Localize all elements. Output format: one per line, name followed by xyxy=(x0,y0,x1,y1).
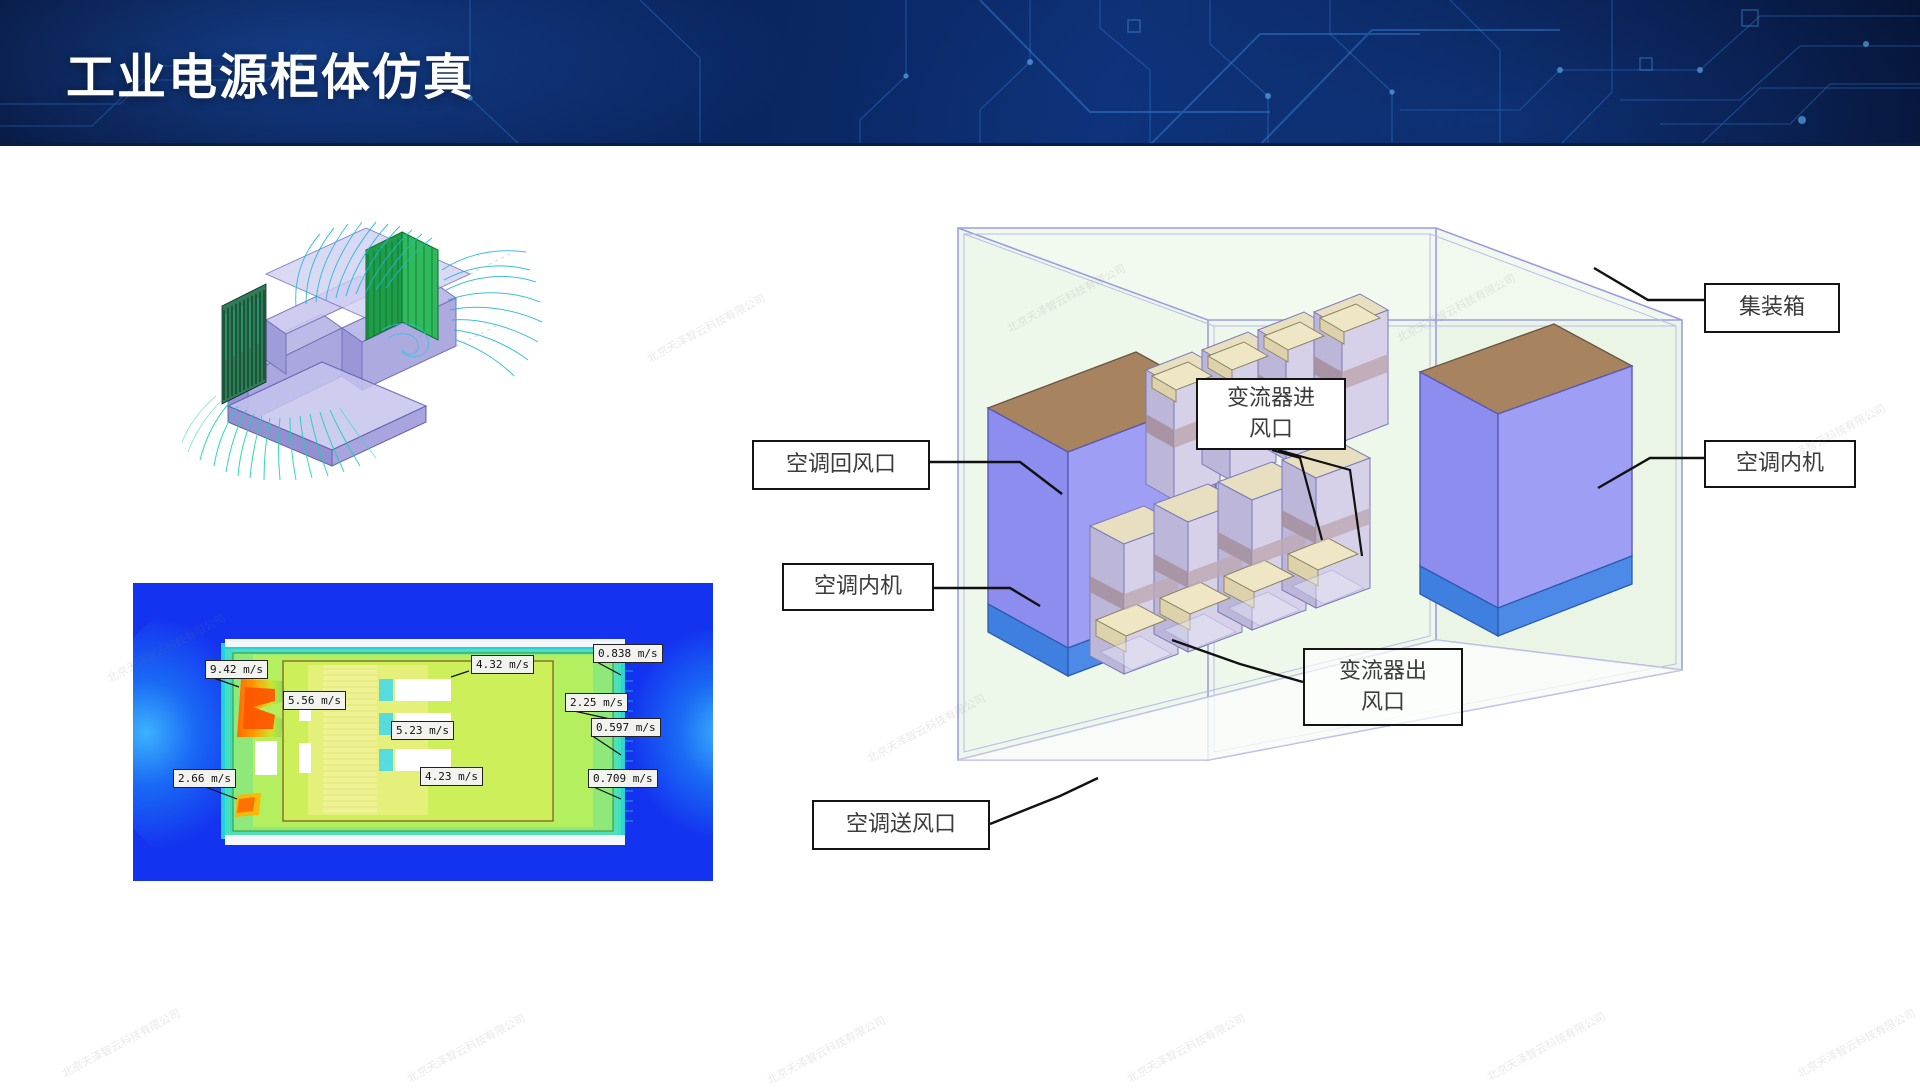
watermark: 北京天泽智云科技有限公司 xyxy=(404,1010,528,1086)
page-title: 工业电源柜体仿真 xyxy=(66,38,474,109)
watermark: 北京天泽智云科技有限公司 xyxy=(1794,1005,1918,1081)
callout-ac-indoor-unit-left[interactable]: 空调内机 xyxy=(782,563,934,611)
velocity-tag: 0.597 m/s xyxy=(591,718,661,737)
callout-ac-return-air-vent[interactable]: 空调回风口 xyxy=(752,440,930,490)
velocity-tag: 2.66 m/s xyxy=(173,769,236,788)
velocity-tag: 0.838 m/s xyxy=(593,644,663,663)
slide-header: 工业电源柜体仿真 xyxy=(0,0,1920,145)
velocity-tag: 2.25 m/s xyxy=(565,693,628,712)
callout-label-line2: 风口 xyxy=(1249,414,1293,445)
callout-label-line2: 风口 xyxy=(1361,687,1405,718)
callout-label: 空调回风口 xyxy=(786,450,896,480)
ac-unit-right xyxy=(1420,324,1632,636)
velocity-tag: 0.709 m/s xyxy=(588,769,658,788)
callout-label-line1: 变流器出 xyxy=(1339,656,1427,687)
callout-converter-outlet-vent[interactable]: 变流器出 风口 xyxy=(1303,648,1463,726)
watermark: 北京天泽智云科技有限公司 xyxy=(764,1012,888,1088)
velocity-tag: 4.23 m/s xyxy=(420,767,483,786)
watermark: 北京天泽智云科技有限公司 xyxy=(59,1005,183,1081)
callout-label: 空调内机 xyxy=(814,572,902,602)
velocity-tag: 5.23 m/s xyxy=(391,721,454,740)
callout-label-line1: 变流器进 xyxy=(1227,383,1315,414)
callout-ac-supply-air-vent[interactable]: 空调送风口 xyxy=(812,800,990,850)
velocity-tag: 5.56 m/s xyxy=(283,691,346,710)
watermark: 北京天泽智云科技有限公司 xyxy=(644,290,768,366)
watermark: 北京天泽智云科技有限公司 xyxy=(1484,1008,1608,1084)
streamline-figure xyxy=(170,210,590,480)
streamline-figure-svg xyxy=(170,210,590,480)
callout-container[interactable]: 集装箱 xyxy=(1704,283,1840,333)
slide: 工业电源柜体仿真 xyxy=(0,0,1920,1080)
velocity-tag: 4.32 m/s xyxy=(471,655,534,674)
velocity-tag: 9.42 m/s xyxy=(205,660,268,679)
callout-label: 空调送风口 xyxy=(846,810,956,840)
callout-converter-inlet-vent[interactable]: 变流器进 风口 xyxy=(1196,378,1346,450)
watermark: 北京天泽智云科技有限公司 xyxy=(1124,1010,1248,1086)
callout-label: 集装箱 xyxy=(1739,293,1805,323)
header-divider xyxy=(0,143,1920,146)
